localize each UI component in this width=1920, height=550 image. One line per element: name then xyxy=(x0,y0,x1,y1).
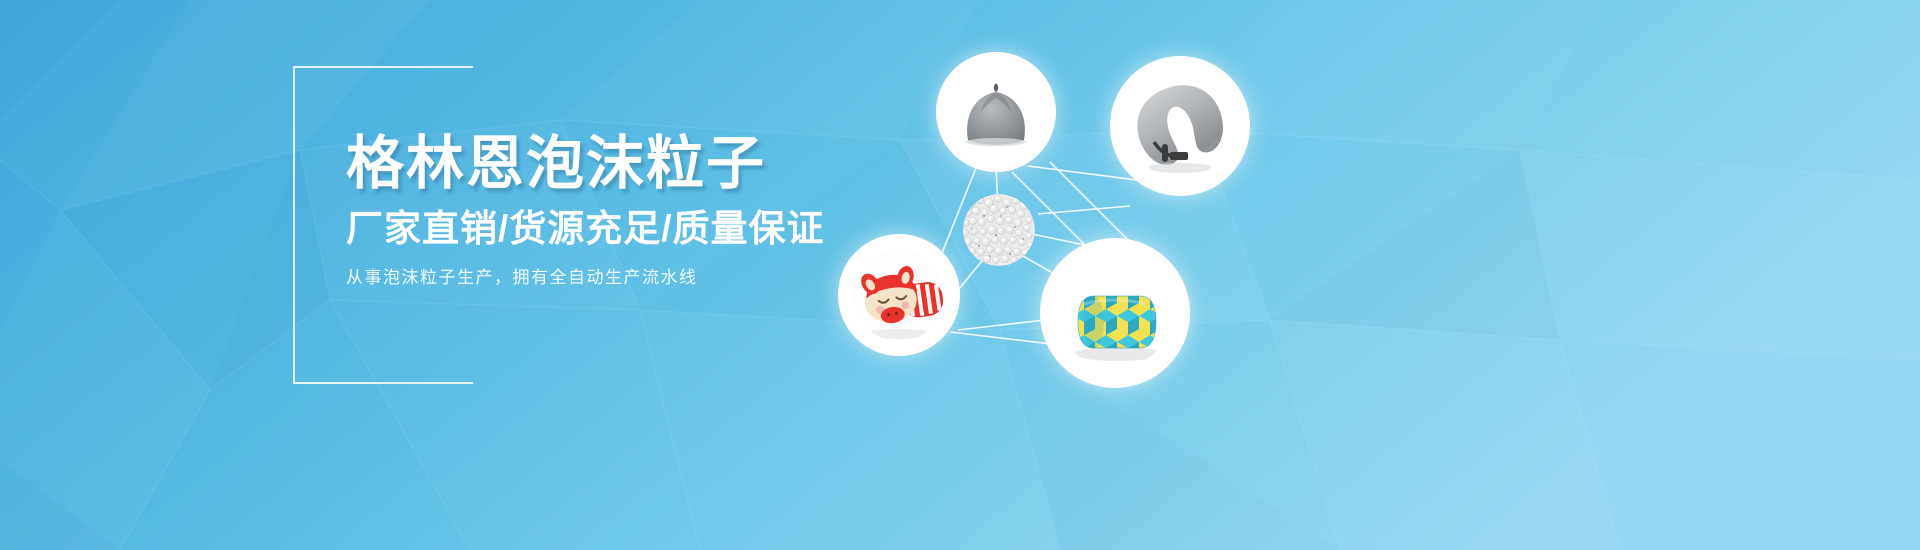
cube-pattern-bolster-pillow-icon xyxy=(1040,238,1190,388)
red-plush-animal-pillow-icon xyxy=(838,234,960,356)
product-circle-plush-toy[interactable] xyxy=(838,234,960,356)
white-foam-beads-icon xyxy=(963,194,1035,266)
grey-neck-pillow-icon xyxy=(1110,56,1250,196)
product-cluster xyxy=(800,0,1360,550)
product-circle-bolster-pillow[interactable] xyxy=(1040,238,1190,388)
promo-banner: 格林恩泡沫粒子 厂家直销/货源充足/质量保证 从事泡沫粒子生产，拥有全自动生产流… xyxy=(0,0,1920,550)
product-circle-neck-pillow[interactable] xyxy=(1110,56,1250,196)
product-circle-foam-beads[interactable] xyxy=(963,194,1035,266)
product-circle-bean-bag-chair[interactable] xyxy=(936,52,1056,172)
grey-bean-bag-chair-icon xyxy=(936,52,1056,172)
